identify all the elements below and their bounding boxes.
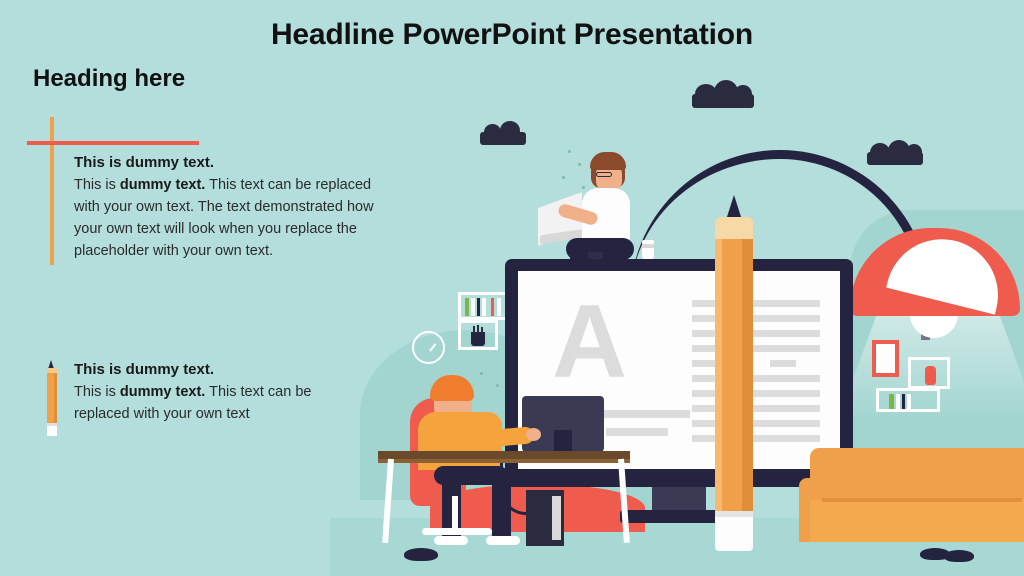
text-block-2: This is dummy text. This is dummy text. …	[74, 359, 364, 425]
screen-text-line	[692, 435, 820, 442]
slipper	[944, 550, 974, 562]
screen-text-line	[692, 405, 820, 412]
screen-text-line	[606, 428, 668, 436]
wall-clock-icon	[412, 331, 445, 364]
sparkle-dot	[578, 163, 581, 166]
sparkle-dot	[568, 150, 571, 153]
coffee-cup-band	[642, 244, 654, 248]
screen-text-line	[692, 315, 820, 322]
desk-top	[378, 451, 630, 459]
screen-text-line	[692, 375, 820, 382]
slipper	[404, 548, 438, 561]
cloud-icon	[480, 132, 526, 145]
sparkle-dot	[480, 372, 483, 375]
man-shoe	[434, 536, 468, 545]
body-lead: This is	[74, 384, 120, 400]
vertical-rule-decoration	[50, 117, 54, 265]
wall-shelf	[876, 388, 940, 412]
sofa-seam	[822, 498, 1022, 502]
screen-text-line	[692, 330, 820, 337]
cloud-icon	[867, 152, 923, 165]
pc-tower-panel	[552, 496, 561, 540]
glasses-icon	[596, 172, 612, 177]
woman-hair-front	[590, 152, 626, 170]
screen-text-line	[692, 300, 820, 307]
screen-text-line	[692, 390, 820, 397]
screen-text-line	[692, 420, 820, 427]
sparkle-dot	[496, 384, 499, 387]
pencil-bullet-icon	[45, 360, 58, 438]
body-lead: This is	[74, 177, 120, 193]
sofa-seat	[810, 500, 1024, 542]
presentation-slide: Headline PowerPoint Presentation Heading…	[0, 0, 1024, 576]
cloud-icon	[692, 94, 754, 108]
body-bold: dummy text.	[120, 177, 205, 193]
section-heading: Heading here	[33, 65, 185, 93]
wall-shelf	[908, 357, 950, 389]
picture-frame	[872, 340, 899, 377]
coffee-cup	[642, 240, 654, 260]
man-shoe	[486, 536, 520, 545]
man-hand	[526, 428, 541, 441]
body-bold: dummy text.	[120, 384, 205, 400]
sparkle-dot	[562, 176, 565, 179]
screen-letter: A	[552, 290, 627, 394]
chair-post	[452, 496, 458, 532]
screen-text-line	[770, 360, 796, 367]
wall-shelf	[458, 320, 498, 350]
screen-text-line	[692, 345, 820, 352]
horizontal-rule-decoration	[27, 141, 199, 145]
text-block-2-title: This is dummy text.	[74, 359, 364, 381]
workspace-illustration: A	[330, 0, 1024, 576]
desk-edge	[378, 459, 630, 463]
sparkle-dot	[582, 186, 585, 189]
chair-base	[422, 528, 492, 535]
text-block-2-body: This is dummy text. This text can be rep…	[74, 381, 364, 425]
